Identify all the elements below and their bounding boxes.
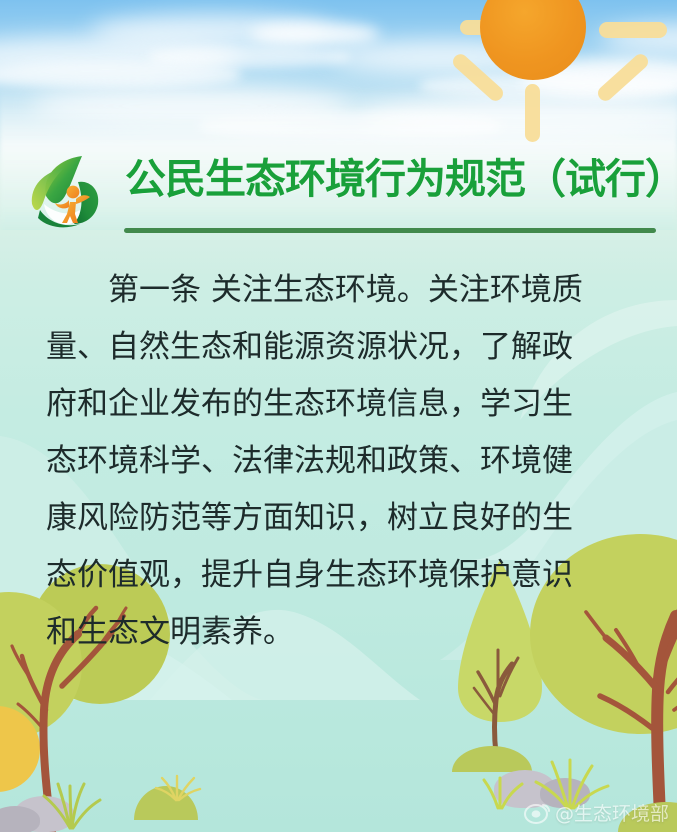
body-line: 第一条 关注生态环境。关注环境质: [46, 262, 632, 319]
body-line: 和生态文明素养。: [46, 604, 632, 661]
grass-tuft-icon: [142, 766, 212, 806]
weibo-eye-icon: [524, 802, 550, 824]
weibo-handle: @生态环境部: [555, 799, 669, 826]
body-line: 量、自然生态和能源资源状况，了解政: [46, 319, 632, 376]
body-line: 康风险防范等方面知识，树立良好的生: [46, 490, 632, 547]
article-body: 第一条 关注生态环境。关注环境质 量、自然生态和能源资源状况，了解政 府和企业发…: [46, 262, 632, 661]
eco-behavior-norms-poster: 公民生态环境行为规范（试行） 第一条 关注生态环境。关注环境质 量、自然生态和能…: [0, 0, 677, 832]
weibo-watermark: @生态环境部: [524, 799, 669, 826]
body-line: 态环境科学、法律法规和政策、环境健: [46, 433, 632, 490]
body-line: 府和企业发布的生态环境信息，学习生: [46, 376, 632, 433]
body-line: 态价值观，提升自身生态环境保护意识: [46, 547, 632, 604]
